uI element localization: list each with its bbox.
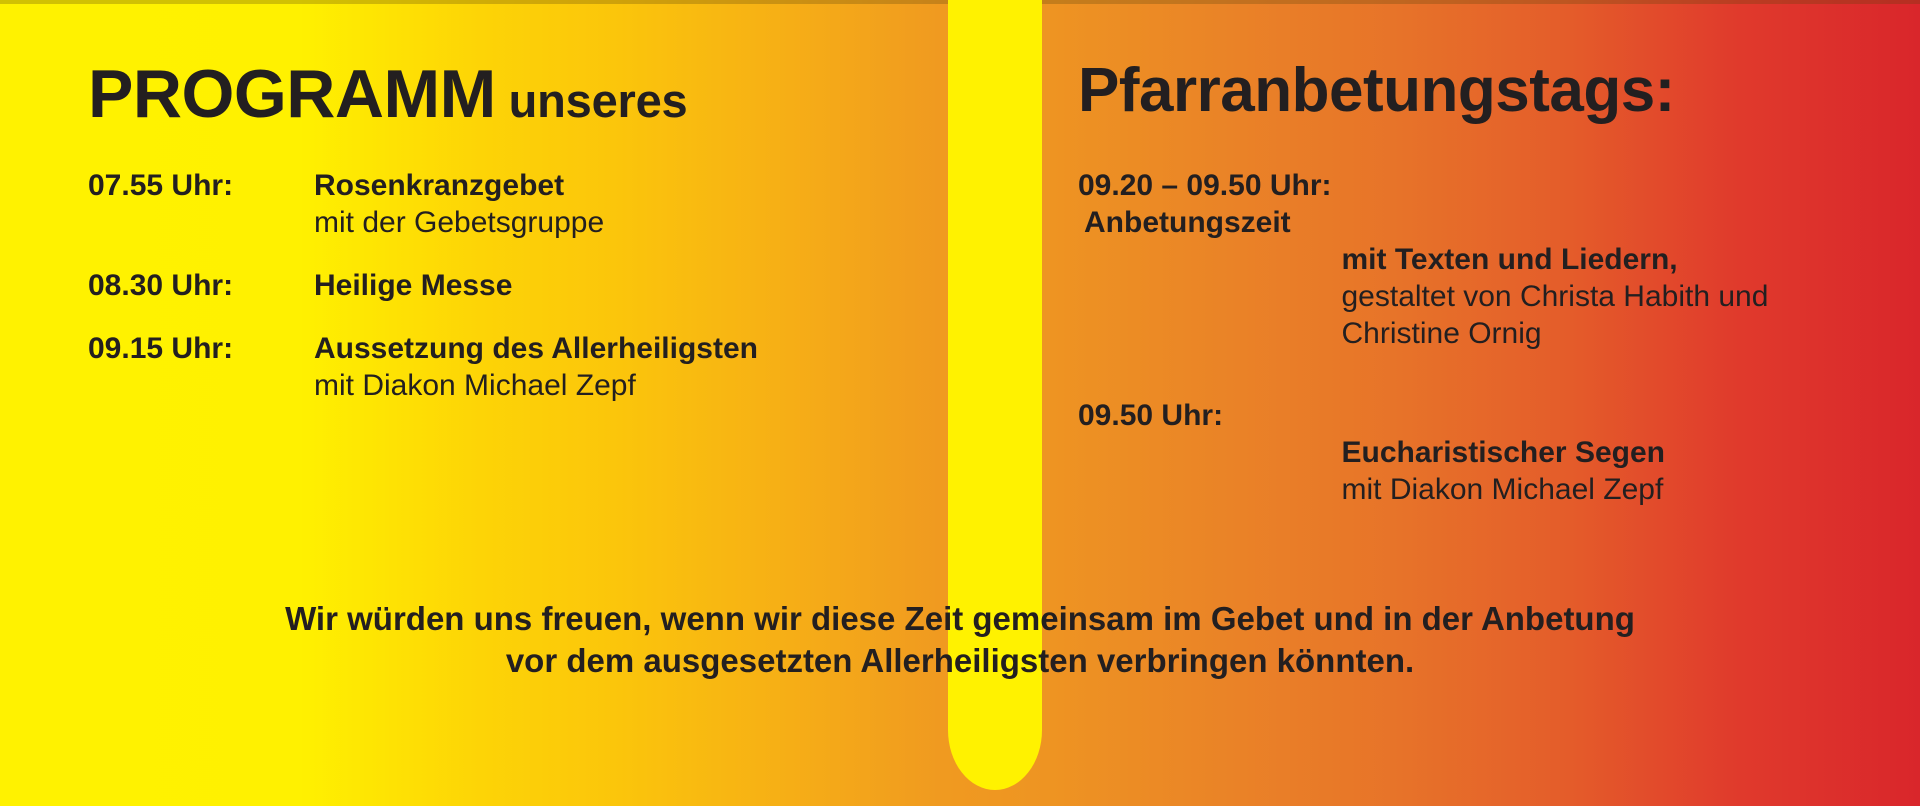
entry-title-line2: mit Texten und Liedern, [1078,242,1898,279]
entry-time: 09.20 – 09.50 Uhr: [1078,169,1332,202]
entry-subtitle: mit Diakon Michael Zepf [314,369,636,402]
entry-title: Rosenkranzgebet [314,169,564,202]
entry-time: 08.30 Uhr: [88,268,314,305]
entry-time: 09.50 Uhr: [1078,398,1342,435]
entry-detail: Eucharistischer Segen mit Diakon Michael… [1078,435,1898,509]
left-heading: PROGRAMM unseres [88,60,688,128]
right-heading: Pfarranbetungstags: [1078,60,1675,122]
schedule-entry: 09.15 Uhr: Aussetzung des Allerheiligste… [88,331,928,405]
entry-time: 09.15 Uhr: [88,331,314,368]
schedule-entry: 07.55 Uhr: Rosenkranzgebet mit der Gebet… [88,168,928,242]
entry-subtitle-line1: gestaltet von Christa Habith und [1078,279,1898,316]
entry-title: Aussetzung des Allerheiligsten [314,332,758,365]
entry-subtitle: mit der Gebetsgruppe [314,206,604,239]
schedule-entry: 09.20 – 09.50 Uhr: Anbetungszeit mit Tex… [1078,168,1898,352]
closing-line-2: vor dem ausgesetzten Allerheiligsten ver… [90,640,1830,682]
closing-line-1: Wir würden uns freuen, wenn wir diese Ze… [90,598,1830,640]
event-title: Pfarranbetungstags: [1078,56,1675,125]
schedule-entry: 08.30 Uhr: Heilige Messe [88,268,928,305]
entry-detail: Heilige Messe [314,268,928,305]
program-title-suffix: unseres [509,74,688,127]
right-schedule-list: 09.20 – 09.50 Uhr: Anbetungszeit mit Tex… [1078,168,1898,509]
entry-title: Heilige Messe [314,269,512,302]
entry-subtitle-line2: Christine Ornig [1078,316,1898,353]
poster-content: PROGRAMM unseres 07.55 Uhr: Rosenkranzge… [0,0,1920,806]
entry-detail: Rosenkranzgebet mit der Gebetsgruppe [314,168,928,242]
entry-title: Eucharistischer Segen [1078,435,1898,472]
closing-statement: Wir würden uns freuen, wenn wir diese Ze… [0,598,1920,682]
entry-subtitle-line1: mit Diakon Michael Zepf [1078,472,1898,509]
poster-root: PROGRAMM unseres 07.55 Uhr: Rosenkranzge… [0,0,1920,806]
entry-title: Anbetungszeit [1084,206,1291,239]
schedule-entry: 09.50 Uhr: Eucharistischer Segen mit Dia… [1078,398,1898,509]
entry-time: 07.55 Uhr: [88,168,314,205]
entry-detail: Aussetzung des Allerheiligsten mit Diako… [314,331,928,405]
entry-detail: Anbetungszeit mit Texten und Liedern, ge… [1078,205,1898,353]
left-schedule-list: 07.55 Uhr: Rosenkranzgebet mit der Gebet… [88,168,928,404]
program-title: PROGRAMM [88,56,496,132]
